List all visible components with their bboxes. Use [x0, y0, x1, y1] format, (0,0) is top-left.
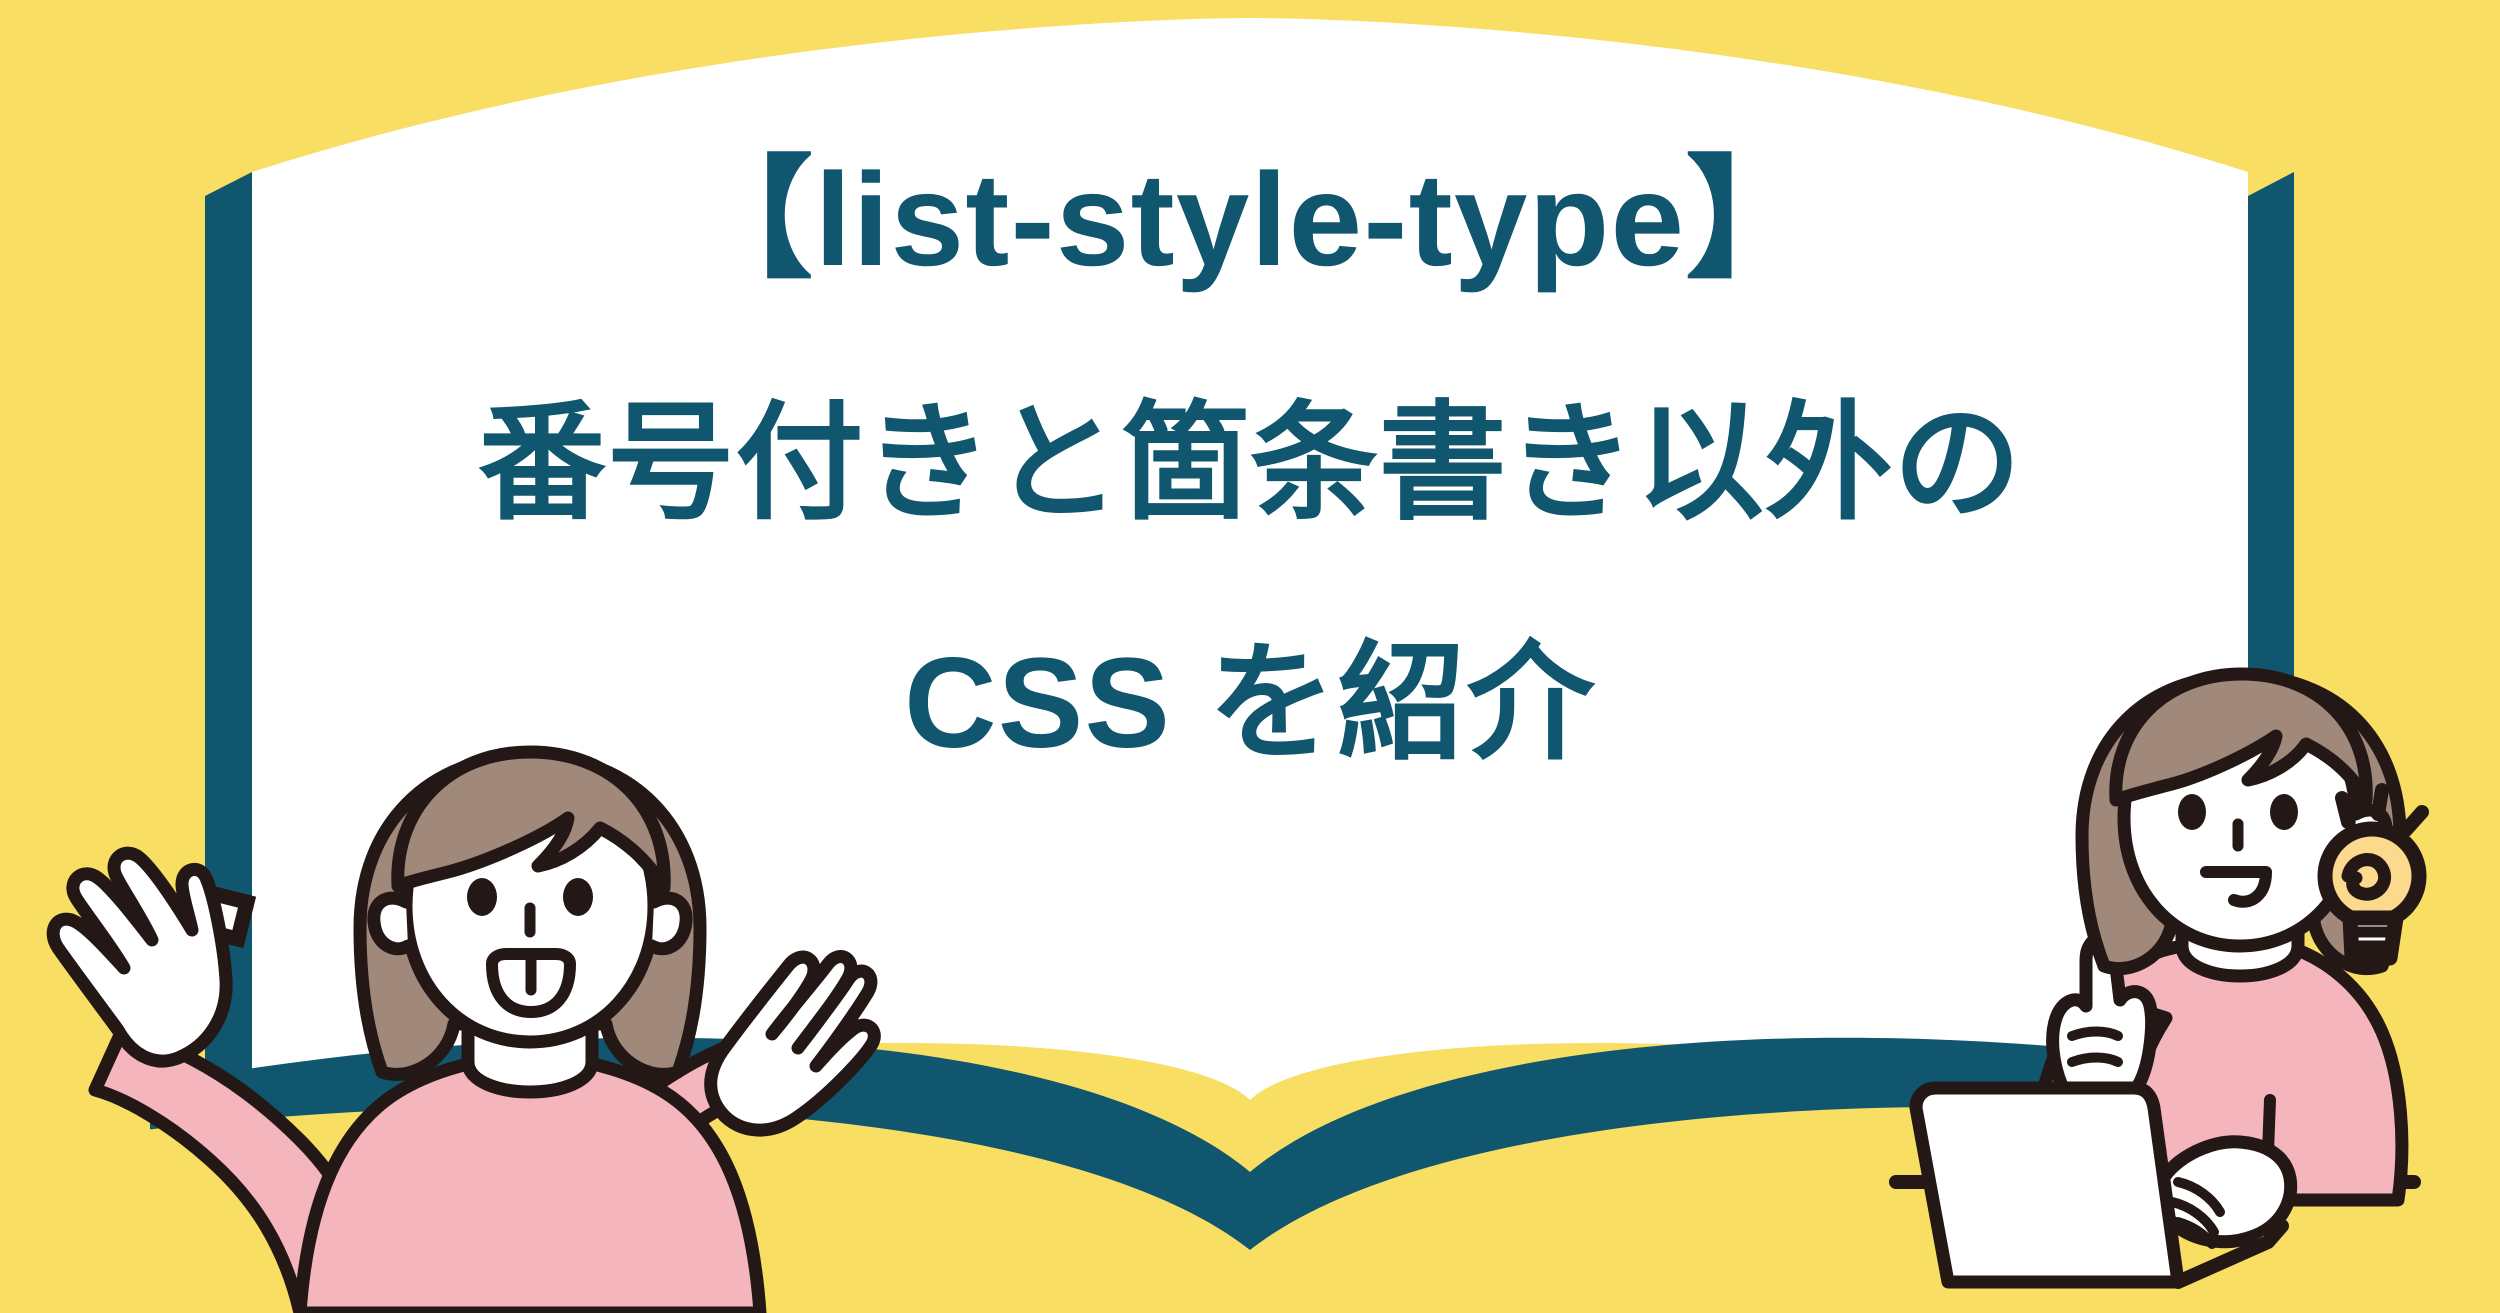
illustration-artwork: [0, 0, 2500, 1313]
finger-crease-1: [2072, 1032, 2118, 1037]
laptop-screen: [1916, 1088, 2178, 1282]
ear-right: [652, 898, 686, 949]
bulb-base: [2350, 918, 2396, 958]
eye-right: [2270, 794, 2298, 830]
eye-left: [2178, 794, 2206, 830]
poster-canvas: 【list-style-type】 番号付きと箇条書き以外の CSS を紹介: [0, 0, 2500, 1313]
bulb-ray-1: [2342, 798, 2348, 822]
eye-left: [467, 878, 497, 916]
eye-right: [563, 878, 593, 916]
ear-left: [374, 898, 408, 949]
bulb-glass: [2325, 829, 2419, 923]
bulb-ray-2: [2378, 790, 2382, 814]
finger-crease-2: [2072, 1058, 2118, 1063]
